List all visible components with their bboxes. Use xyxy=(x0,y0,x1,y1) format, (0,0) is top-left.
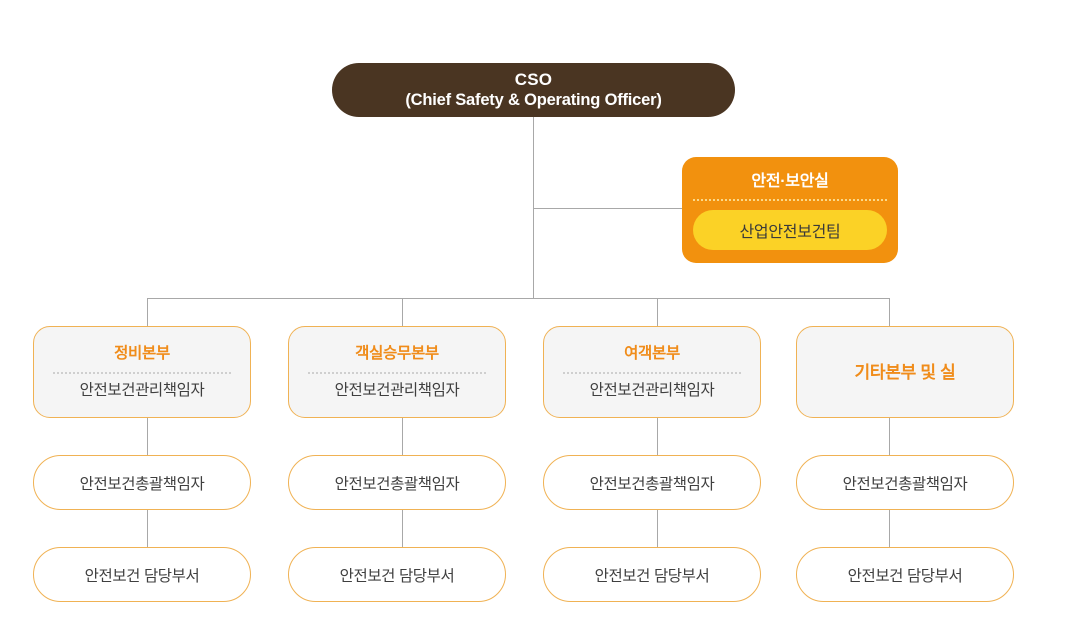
safety-manager-node-1: 안전보건총괄책임자 xyxy=(33,455,251,510)
safety-manager-node-2: 안전보건총괄책임자 xyxy=(288,455,506,510)
division-title-3: 여객본부 xyxy=(624,346,680,362)
dotted-divider xyxy=(563,372,741,374)
division-subtitle-1: 안전보건관리책임자 xyxy=(80,383,205,399)
safety-department-node-2: 안전보건 담당부서 xyxy=(288,547,506,602)
safety-department-node-4: 안전보건 담당부서 xyxy=(796,547,1014,602)
safety-manager-node-3: 안전보건총괄책임자 xyxy=(543,455,761,510)
division-subtitle-2: 안전보건관리책임자 xyxy=(335,383,460,399)
connector-col-1-row2-row3 xyxy=(147,510,148,547)
connector-col-3-row2-row3 xyxy=(657,510,658,547)
division-title-4: 기타본부 및 실 xyxy=(855,364,956,381)
safety-security-office-title: 안전·보안실 xyxy=(751,167,828,199)
safety-department-node-1: 안전보건 담당부서 xyxy=(33,547,251,602)
connector-col-2-row2-row3 xyxy=(402,510,403,547)
connector-trunk-upper xyxy=(533,117,534,208)
connector-col-4-row2-row3 xyxy=(889,510,890,547)
connector-drop-col-1 xyxy=(147,298,148,326)
connector-drop-col-2 xyxy=(402,298,403,326)
safety-security-office-node: 안전·보안실 산업안전보건팀 xyxy=(682,157,898,263)
safety-department-node-3: 안전보건 담당부서 xyxy=(543,547,761,602)
connector-distribution-bar xyxy=(147,298,889,299)
connector-col-3-row1-row2 xyxy=(657,418,658,455)
dotted-divider xyxy=(693,199,887,201)
connector-staff-branch xyxy=(533,208,682,209)
division-node-3: 여객본부 안전보건관리책임자 xyxy=(543,326,761,418)
connector-col-1-row1-row2 xyxy=(147,418,148,455)
cso-subtitle: (Chief Safety & Operating Officer) xyxy=(405,90,661,110)
connector-col-2-row1-row2 xyxy=(402,418,403,455)
org-chart: CSO (Chief Safety & Operating Officer) 안… xyxy=(0,0,1090,624)
division-title-2: 객실승무본부 xyxy=(355,346,439,362)
dotted-divider xyxy=(53,372,231,374)
cso-node: CSO (Chief Safety & Operating Officer) xyxy=(332,63,735,117)
division-subtitle-3: 안전보건관리책임자 xyxy=(590,383,715,399)
division-title-1: 정비본부 xyxy=(114,346,170,362)
division-node-4: 기타본부 및 실 xyxy=(796,326,1014,418)
dotted-divider xyxy=(308,372,486,374)
safety-manager-node-4: 안전보건총괄책임자 xyxy=(796,455,1014,510)
division-node-2: 객실승무본부 안전보건관리책임자 xyxy=(288,326,506,418)
connector-col-4-row1-row2 xyxy=(889,418,890,455)
connector-drop-col-3 xyxy=(657,298,658,326)
division-node-1: 정비본부 안전보건관리책임자 xyxy=(33,326,251,418)
cso-title: CSO xyxy=(515,70,552,91)
industrial-safety-health-team: 산업안전보건팀 xyxy=(693,210,887,250)
connector-drop-col-4 xyxy=(889,298,890,326)
connector-trunk-lower xyxy=(533,208,534,298)
